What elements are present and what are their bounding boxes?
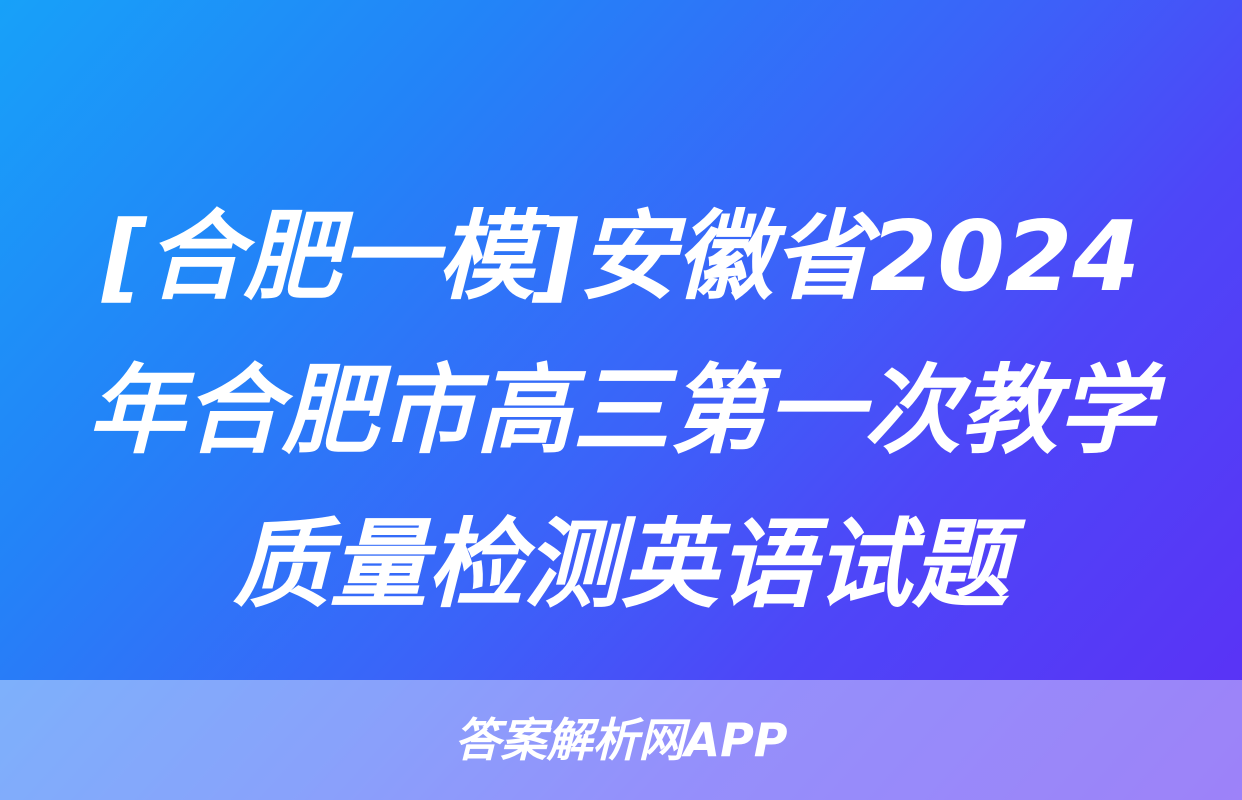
- title-line-2: 年合肥市高三第一次教学: [40, 334, 1202, 488]
- title-line-3: 质量检测英语试题: [40, 488, 1202, 642]
- poster-canvas: [合肥一模]安徽省2024 年合肥市高三第一次教学 质量检测英语试题 答案解析网…: [0, 0, 1242, 800]
- page-title: [合肥一模]安徽省2024 年合肥市高三第一次教学 质量检测英语试题: [0, 180, 1242, 642]
- watermark-bar: 答案解析网APP: [0, 680, 1242, 800]
- app-watermark-label: 答案解析网APP: [454, 717, 787, 763]
- title-line-1: [合肥一模]安徽省2024: [40, 180, 1202, 334]
